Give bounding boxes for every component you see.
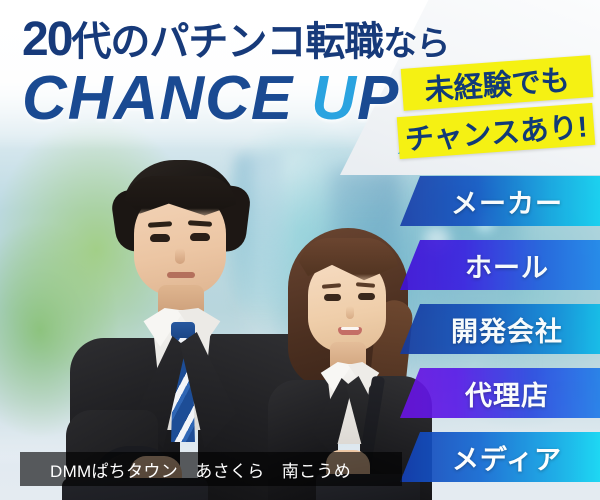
tag-agency[interactable]: 代理店 <box>400 368 600 418</box>
chance-up-logo: CHANCEUP <box>22 68 399 130</box>
logo-u-letter: U <box>311 68 357 130</box>
woman-eye-left <box>324 294 341 301</box>
logo-chance-text: CHANCE <box>22 64 293 133</box>
tag-label: メディア <box>452 438 562 477</box>
category-tag-list: メーカー ホール 開発会社 代理店 メディア <box>400 176 600 496</box>
tag-label: メーカー <box>451 182 563 221</box>
headline-middle: 代のパチンコ転職 <box>71 20 383 64</box>
tag-label: 開発会社 <box>451 310 563 349</box>
tag-label: ホール <box>465 246 549 285</box>
headline-tail: なら <box>383 25 449 63</box>
man-eye-left <box>150 234 170 242</box>
headline-number: 20 <box>22 13 71 66</box>
page-title: 20代のパチンコ転職なら <box>22 16 449 64</box>
tag-development-company[interactable]: 開発会社 <box>400 304 600 354</box>
advertisement-banner[interactable]: 20代のパチンコ転職なら CHANCEUP 未経験でも チャンスあり! メーカー… <box>0 0 600 500</box>
man-necktie-knot <box>171 322 195 338</box>
logo-p-letter: P <box>357 64 399 133</box>
woman-eye-right <box>358 293 375 300</box>
man-eye-right <box>190 233 210 241</box>
tag-hall[interactable]: ホール <box>400 240 600 290</box>
tag-maker[interactable]: メーカー <box>400 176 600 226</box>
woman-teeth <box>341 327 359 330</box>
woman-nose <box>346 306 354 319</box>
tag-label: 代理店 <box>465 374 549 413</box>
tag-media[interactable]: メディア <box>400 432 600 482</box>
man-mouth <box>167 272 195 278</box>
credit-bar: DMMぱちタウン あさくら 南こうめ <box>20 452 402 486</box>
man-nose <box>175 248 185 264</box>
credit-text: DMMぱちタウン あさくら 南こうめ <box>50 457 351 482</box>
